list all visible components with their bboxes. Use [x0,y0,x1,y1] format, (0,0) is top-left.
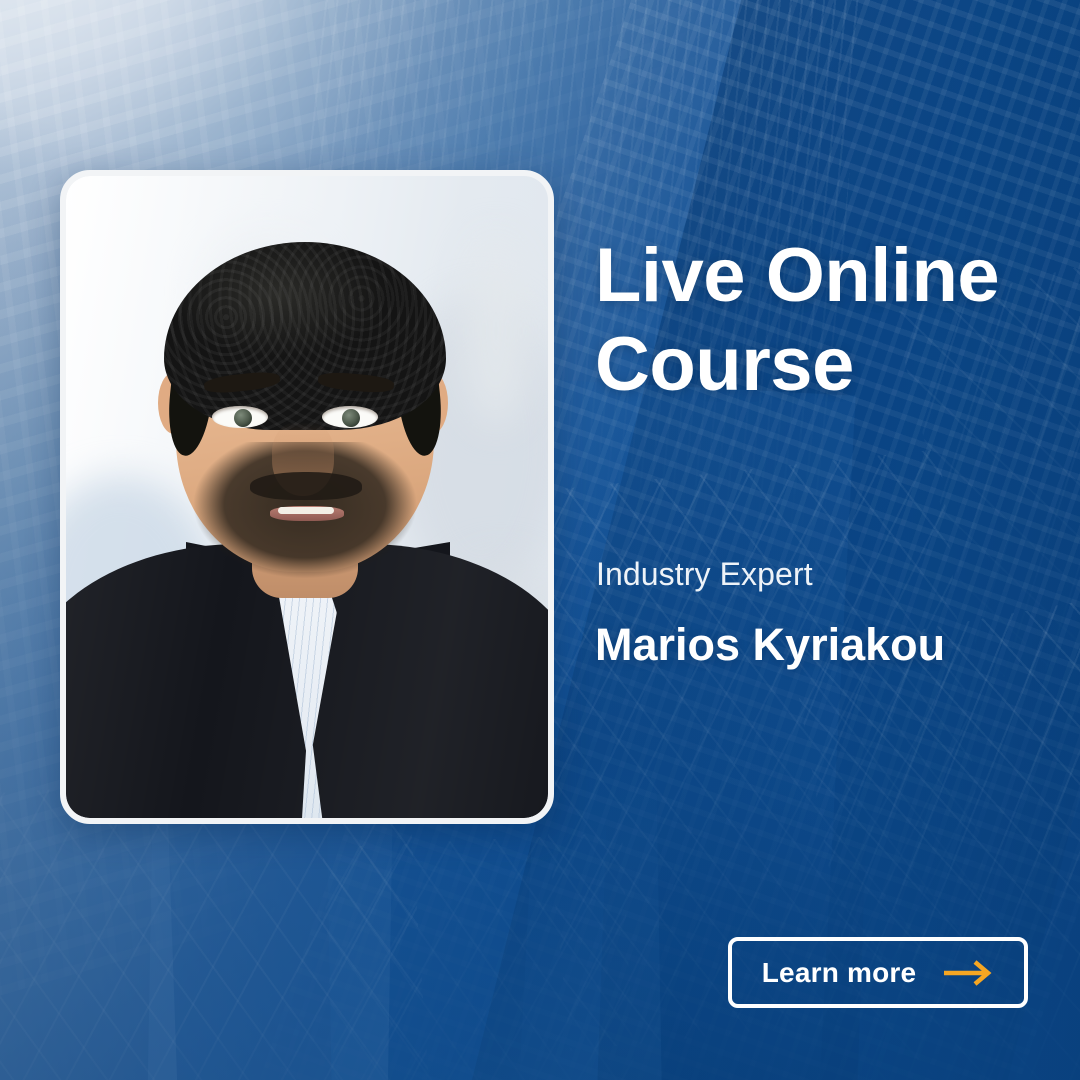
speaker-name: Marios Kyriakou [595,618,995,672]
iris-left [234,409,252,427]
speaker-photo [66,176,548,818]
hair-texture [164,242,446,430]
page-title: Live Online Course [595,232,1025,410]
speaker-role: Industry Expert [596,556,813,593]
iris-right [342,409,360,427]
person-figure [66,176,548,818]
speaker-photo-card [60,170,554,824]
learn-more-button[interactable]: Learn more [728,937,1028,1008]
promo-card: Live Online Course Industry Expert Mario… [0,0,1080,1080]
teeth [278,507,334,514]
learn-more-label: Learn more [762,957,917,989]
arrow-right-icon [942,959,994,987]
moustache [250,472,362,500]
